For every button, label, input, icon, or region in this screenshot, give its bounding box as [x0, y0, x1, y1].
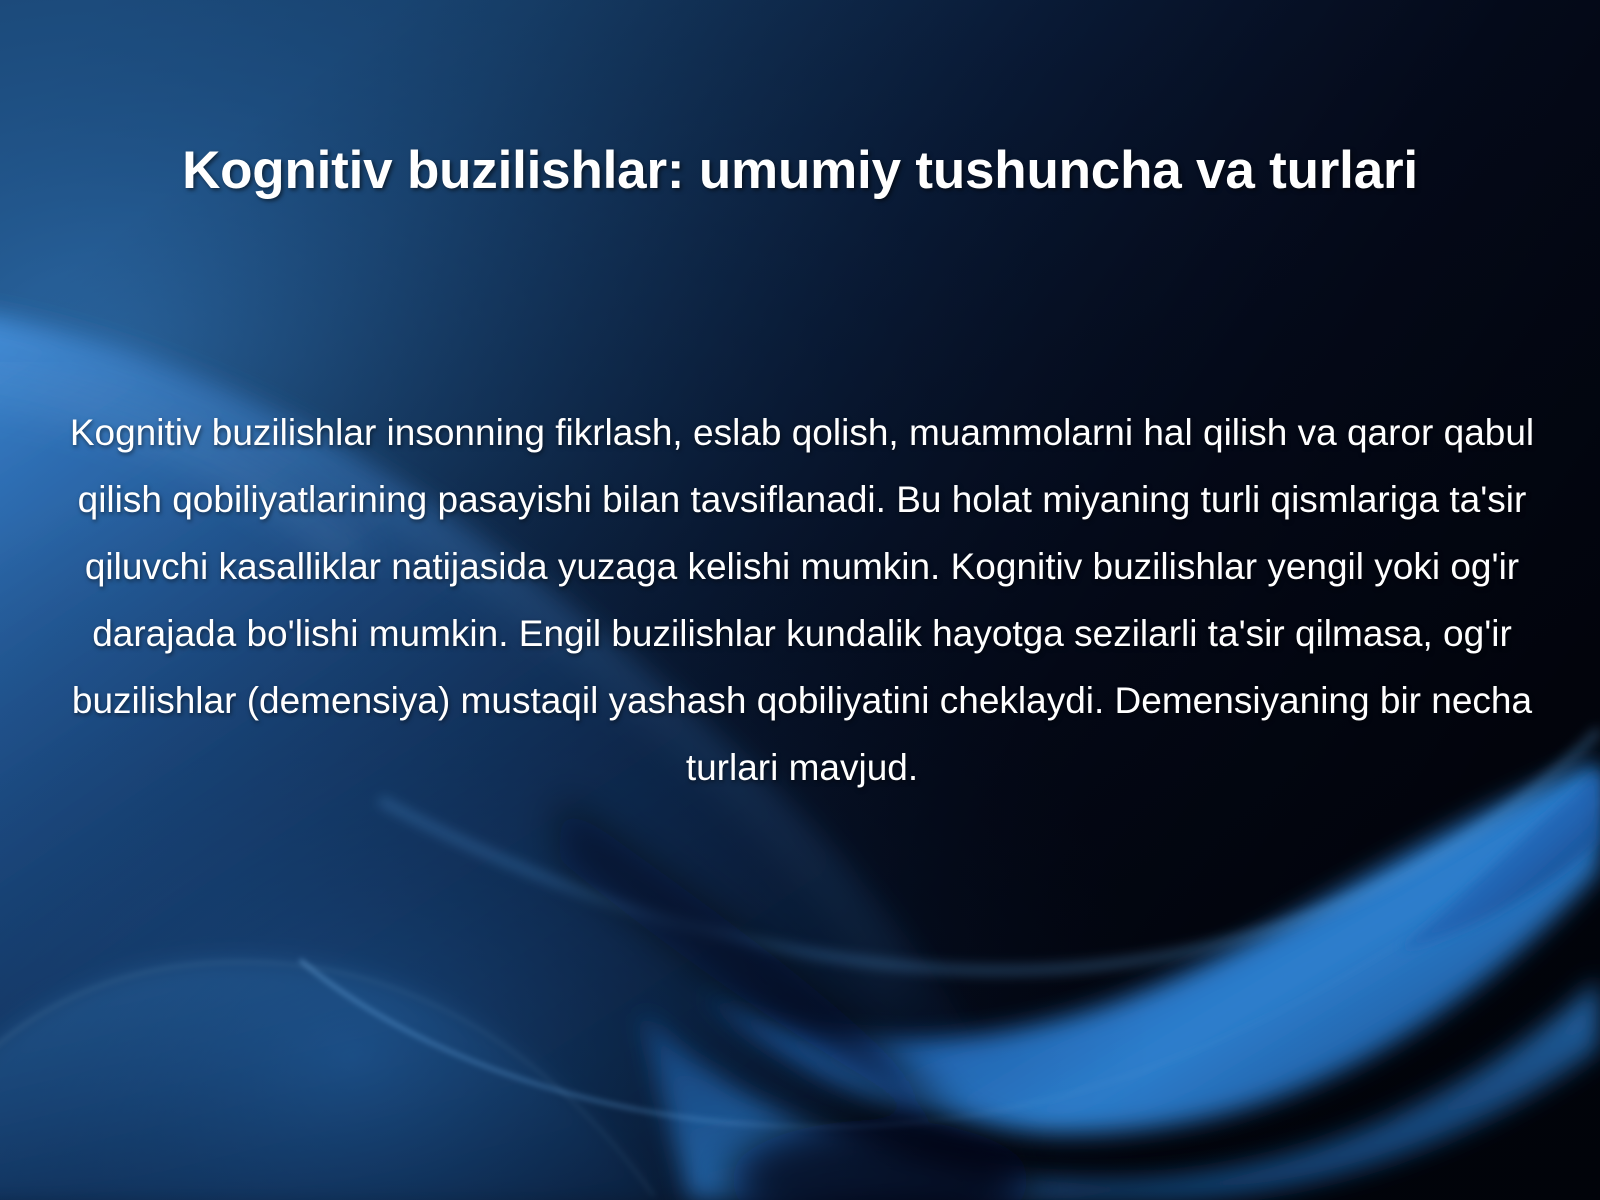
body-paragraph: Kognitiv buzilishlar insonning fikrlash,… [62, 399, 1542, 801]
page-title: Kognitiv buzilishlar: umumiy tushuncha v… [0, 140, 1600, 201]
body-text-block: Kognitiv buzilishlar insonning fikrlash,… [62, 362, 1542, 838]
presentation-slide: Kognitiv buzilishlar: umumiy tushuncha v… [0, 0, 1600, 1200]
slide-content: Kognitiv buzilishlar: umumiy tushuncha v… [0, 0, 1600, 1200]
